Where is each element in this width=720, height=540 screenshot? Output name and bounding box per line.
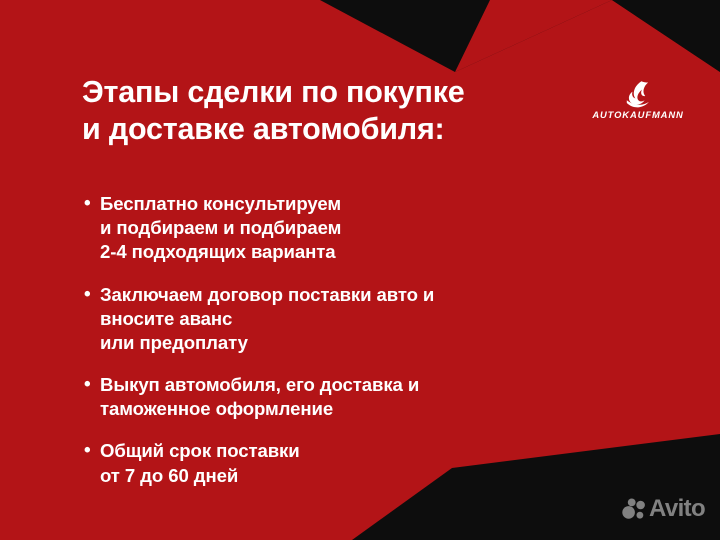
brand-wordmark: AUTOKAUFMANN bbox=[588, 109, 688, 120]
list-item: • Общий срок поставки от 7 до 60 дней bbox=[84, 439, 624, 487]
avito-dots-icon bbox=[622, 497, 646, 521]
list-item: • Заключаем договор поставки авто и внос… bbox=[84, 283, 624, 356]
steps-list: • Бесплатно консультируем и подбираем и … bbox=[84, 192, 624, 488]
list-item-text: Общий срок поставки от 7 до 60 дней bbox=[100, 439, 624, 487]
list-item-text: Заключаем договор поставки авто и вносит… bbox=[100, 283, 624, 356]
avito-wordmark: Avito bbox=[649, 497, 705, 521]
list-item: • Выкуп автомобиля, его доставка и тамож… bbox=[84, 373, 624, 421]
promo-poster: Этапы сделки по покупке и доставке автом… bbox=[0, 0, 720, 540]
list-item-text: Выкуп автомобиля, его доставка и таможен… bbox=[100, 373, 624, 421]
avito-watermark: Avito bbox=[622, 497, 705, 521]
bullet-dot-icon: • bbox=[84, 439, 100, 463]
flame-swoosh-icon bbox=[621, 80, 655, 108]
brand-logo: AUTOKAUFMANN bbox=[588, 80, 688, 120]
bullet-dot-icon: • bbox=[84, 192, 100, 216]
list-item-text: Бесплатно консультируем и подбираем и по… bbox=[100, 192, 624, 265]
bullet-dot-icon: • bbox=[84, 373, 100, 397]
poster-heading: Этапы сделки по покупке и доставке автом… bbox=[82, 74, 602, 148]
list-item: • Бесплатно консультируем и подбираем и … bbox=[84, 192, 624, 265]
bullet-dot-icon: • bbox=[84, 283, 100, 307]
